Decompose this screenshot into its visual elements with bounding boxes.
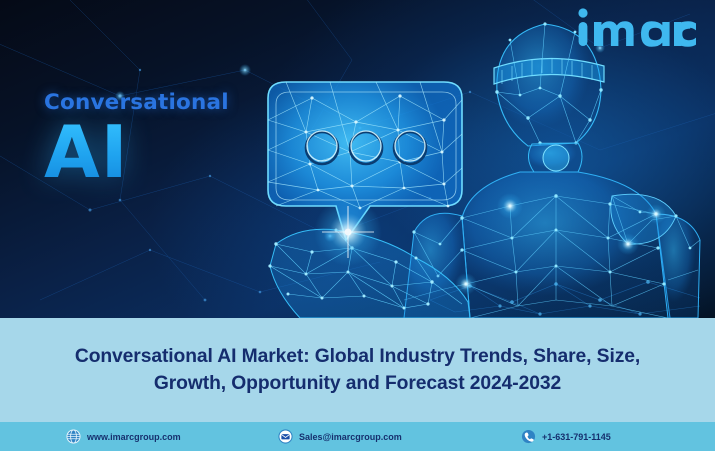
hero-image: Conversational AI [0, 0, 715, 318]
wordmark-line-2: AI [44, 116, 229, 188]
contact-website-label: www.imarcgroup.com [87, 432, 181, 442]
contact-website[interactable]: www.imarcgroup.com [66, 429, 181, 444]
imarc-logo[interactable] [567, 6, 701, 52]
contact-phone[interactable]: +1-631-791-1145 [521, 429, 611, 444]
hero-wordmark: Conversational AI [44, 92, 229, 188]
page-title: Conversational AI Market: Global Industr… [38, 343, 678, 398]
contact-footer-bar: www.imarcgroup.com Sales@imarcgroup.com … [0, 422, 715, 451]
marketing-banner: Conversational AI Conversational AI M [0, 0, 715, 451]
phone-icon [521, 429, 536, 444]
contact-email[interactable]: Sales@imarcgroup.com [278, 429, 402, 444]
contact-phone-label: +1-631-791-1145 [542, 432, 611, 442]
contact-email-label: Sales@imarcgroup.com [299, 432, 402, 442]
title-band: Conversational AI Market: Global Industr… [0, 318, 715, 422]
globe-icon [66, 429, 81, 444]
email-icon [278, 429, 293, 444]
